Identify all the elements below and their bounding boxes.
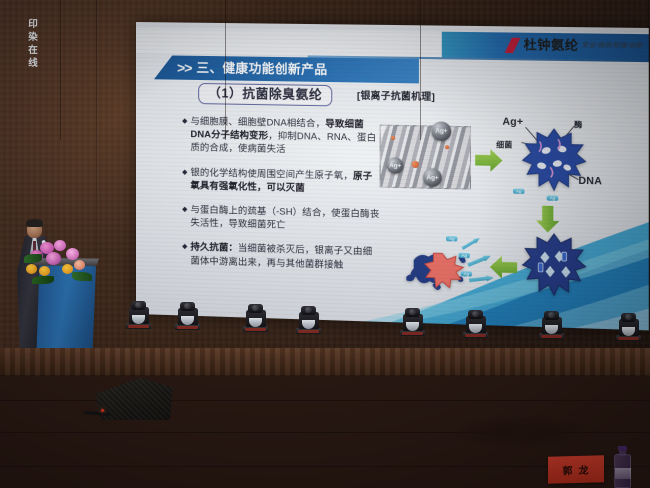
speaker-hair [26,219,43,227]
stage-light [126,299,151,329]
diamond-bullet-icon: ◆ [182,115,187,155]
flower-arrangement [22,238,100,286]
floor-seam [225,0,226,140]
light-lens [406,322,419,331]
bacterium-killed [521,232,587,303]
bullet-text: 银的化学结构使周围空间产生原子氧，原子氧具有强氧化性，可以灭菌 [190,166,380,197]
flower [26,264,37,274]
diamond-bullet-icon: ◆ [182,166,187,193]
light-lens [622,327,635,336]
flower [46,252,61,265]
light-lens [469,324,482,333]
light-base-clamp [465,334,486,337]
light-knob [305,307,312,313]
bottle-label [615,468,631,479]
label-bacteria: 细菌 [496,139,512,151]
light-base-clamp [177,326,198,329]
light-knob [184,303,191,309]
bullet-text: 与蛋白酶上的巯基（-SH）结合，使蛋白酶丧失活性，导致细菌死亡 [190,203,380,234]
conference-hall-photo: SPANDEX 杜钟氨纶 安全/诚信/和谐/创新 >> 三、健康功能创新产品 （… [0,0,650,488]
transfer-arrow-left-icon [490,256,517,279]
ion-chip: Ag [461,271,472,276]
diamond-bullet-icon: ◆ [182,241,187,268]
chevron-right-icon: >> [177,61,191,75]
floor-seam [60,0,61,140]
wall-panel-seam [96,0,97,356]
ag-ion-sphere: Ag+ [387,157,404,174]
foliage [32,276,54,284]
stage-light [616,311,641,341]
light-knob [252,305,259,311]
light-base-clamp [618,337,639,340]
foliage [24,254,42,263]
ion-chip: Ag [446,236,457,241]
section-title-text: 三、健康功能创新产品 [196,62,327,77]
stage-light [539,309,564,339]
flower [74,260,85,270]
light-base-clamp [128,325,149,328]
label-silver-ion: Ag+ [502,117,523,129]
light-base-clamp [245,328,266,331]
stage-light [175,300,200,330]
light-lens [132,315,145,324]
bacterium-infected [521,127,587,197]
light-knob [135,302,142,308]
presentation-slide: SPANDEX 杜钟氨纶 安全/诚信/和谐/创新 >> 三、健康功能创新产品 （… [136,22,649,330]
mechanism-label: [银离子抗菌机理] [357,88,435,104]
namecard-char: 龙 [579,462,590,477]
bullet-list: ◆ 与细胞膜、细胞壁DNA相结合，导致细菌DNA分子结构变形，抑制DNA、RNA… [182,115,381,284]
stage-light [463,308,488,338]
list-item: ◆ 与蛋白酶上的巯基（-SH）结合，使蛋白酶丧失活性，导致细菌死亡 [182,203,381,235]
ion-chip: Ag [547,195,559,200]
stage-light [400,306,425,336]
slide-subtitle-box: （1）抗菌除臭氨纶 [198,83,332,107]
foreground-shadow [455,417,585,447]
light-lens [249,318,262,327]
light-lens [302,320,315,329]
bullet-text: 与细胞膜、细胞壁DNA相结合，导致细菌DNA分子结构变形，抑制DNA、RNA、蛋… [190,115,380,159]
ag-ion-sphere: Ag+ [431,121,451,141]
stage-light [243,302,268,332]
ion-chip: Ag [458,253,469,258]
light-knob [409,309,416,315]
light-base-clamp [541,335,562,338]
logo-tagline: 安全/诚信/和谐/创新 [582,43,643,50]
light-knob [548,312,555,318]
projection-screen: SPANDEX 杜钟氨纶 安全/诚信/和谐/创新 >> 三、健康功能创新产品 （… [136,22,649,330]
diamond-bullet-icon: ◆ [182,203,187,230]
light-lens [545,325,558,334]
floor-seam [420,0,421,140]
bullet-lead: 与蛋白酶上的巯基（-SH）结合，使蛋白酶丧失活性，导致细菌死亡 [190,204,379,230]
light-base-clamp [402,332,423,335]
company-logo: SPANDEX 杜钟氨纶 安全/诚信/和谐/创新 [503,34,643,57]
podium-label: 印染在线 [26,18,40,70]
flower [54,240,66,251]
bullet-lead: 银的化学结构使周围空间产生原子氧， [190,167,352,181]
ion-chip: Ag [513,189,525,194]
silver-particle [412,161,419,168]
light-lens [181,316,194,325]
flower [66,248,79,260]
bottle-cap [618,446,627,451]
speaker-power-led [101,409,104,412]
silver-particle [445,145,449,149]
bullet-text: 持久抗菌：当细菌被杀灭后，银离子又由细菌体中游离出来，再与其他菌群接触 [190,241,380,273]
foliage [72,272,92,281]
light-knob [472,311,479,317]
namecard-char: 郭 [563,462,574,477]
logo-brand-name: 杜钟氨纶 [524,39,579,53]
water-bottle [614,446,631,488]
section-title-ribbon: >> 三、健康功能创新产品 [154,55,419,83]
flower [39,266,50,276]
table-namecard: 郭 龙 [548,455,604,483]
light-knob [625,314,632,320]
transfer-arrow-right-icon [475,149,502,172]
bullet-lead: 与细胞膜、细胞壁DNA相结合， [190,116,325,129]
ag-ion-sphere: Ag+ [423,168,442,187]
list-item: ◆ 持久抗菌：当细菌被杀灭后，银离子又由细菌体中游离出来，再与其他菌群接触 [182,241,381,273]
logo-mark-icon: SPANDEX [503,38,521,54]
list-item: ◆ 银的化学结构使周围空间产生原子氧，原子氧具有强氧化性，可以灭菌 [182,166,381,197]
light-base-clamp [298,330,319,333]
list-item: ◆ 与细胞膜、细胞壁DNA相结合，导致细菌DNA分子结构变形，抑制DNA、RNA… [182,115,381,159]
slide-header-white-part [136,28,442,57]
silver-particle [391,136,395,140]
transfer-arrow-down-icon [536,206,559,233]
stage-light [296,304,321,334]
bullet-bold: 持久抗菌： [190,242,237,253]
